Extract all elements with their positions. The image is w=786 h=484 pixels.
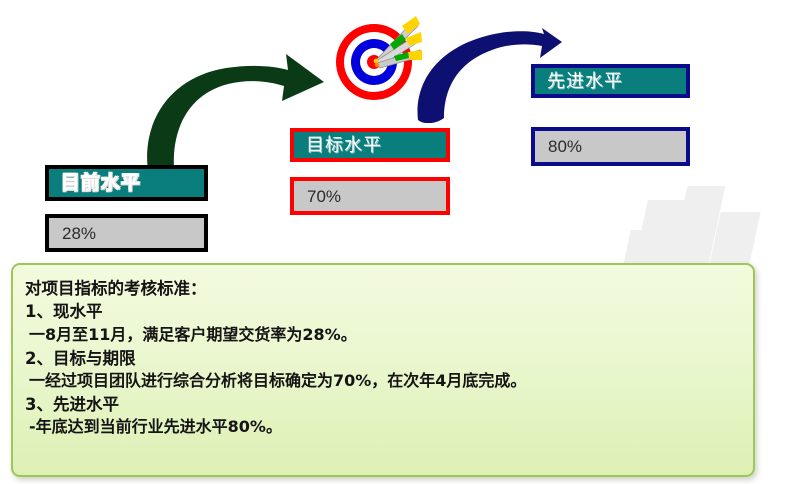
advanced-level-label-box: 先进水平 <box>531 64 690 98</box>
current-level-value-text: 28% <box>49 225 96 242</box>
dartboard-with-darts-icon <box>332 14 422 106</box>
current-level-value-box: 28% <box>45 214 208 252</box>
notes-item-2-detail: 一经过项目团队进行综合分析将目标确定为70%，在次年4月底完成。 <box>25 370 753 393</box>
current-level-label-text: 目前水平 <box>49 174 141 193</box>
current-level-label-box: 目前水平 <box>45 165 208 201</box>
notes-title: 对项目指标的考核标准： <box>25 277 753 300</box>
notes-item-1-head: 1、现水平 <box>25 300 753 323</box>
notes-item-3-head: 3、先进水平 <box>25 393 753 416</box>
advanced-level-value-text: 80% <box>535 138 582 155</box>
slide-canvas: 目前水平 28% 目标水平 70% 先进水平 80% 对项目指标的考核标准： 1… <box>0 0 786 484</box>
criteria-notes-panel: 对项目指标的考核标准： 1、现水平 一8月至11月，满足客户期望交货率为28%。… <box>11 263 755 477</box>
advanced-level-value-box: 80% <box>531 127 690 166</box>
notes-item-2-head: 2、目标与期限 <box>25 347 753 370</box>
target-level-label-box: 目标水平 <box>290 128 450 162</box>
target-level-label-text: 目标水平 <box>294 136 382 154</box>
background-watermark <box>618 178 768 274</box>
target-level-value-text: 70% <box>294 188 341 205</box>
target-level-value-box: 70% <box>290 177 450 215</box>
notes-item-3-detail: -年底达到当前行业先进水平80%。 <box>25 416 753 439</box>
advanced-level-label-text: 先进水平 <box>535 72 623 90</box>
notes-item-1-detail: 一8月至11月，满足客户期望交货率为28%。 <box>25 324 753 347</box>
